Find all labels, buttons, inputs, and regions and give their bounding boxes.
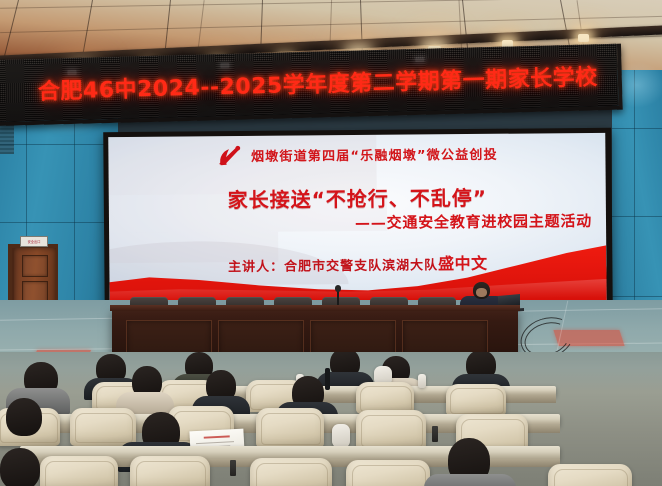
- exit-sign: 安全出口: [20, 236, 48, 247]
- bottle: [325, 368, 330, 390]
- presenter-face: [476, 288, 487, 297]
- slide-subtitle: ——交通安全教育进校园主题活动: [355, 210, 592, 233]
- auditorium-seat[interactable]: [346, 460, 430, 486]
- handbag: [332, 424, 350, 448]
- cup: [418, 374, 426, 388]
- audience-head: [6, 398, 42, 436]
- projection-screen: 烟墩街道第四届“乐融烟墩”微公益创投 家长接送“不抢行、不乱停” ——交通安全教…: [108, 133, 606, 308]
- auditorium-seat[interactable]: [256, 408, 324, 448]
- cpc-hammer-sickle-icon: [216, 143, 242, 167]
- projection-screen-frame: 烟墩街道第四届“乐融烟墩”微公益创投 家长接送“不抢行、不乱停” ——交通安全教…: [103, 128, 613, 314]
- podium-top-edge: [110, 305, 520, 311]
- auditorium-seat[interactable]: [40, 456, 118, 486]
- slide-header-row: 烟墩街道第四届“乐融烟墩”微公益创投: [108, 140, 605, 168]
- ceiling-spotlight: [578, 34, 589, 42]
- auditorium-seat[interactable]: [548, 464, 632, 486]
- audience-shoulders: [424, 474, 516, 486]
- auditorium-photo: 安全出口 合肥46中2024--2025学年度第二学期第一期家长学校: [0, 0, 662, 486]
- exit-sign-label: 安全出口: [28, 239, 41, 244]
- led-banner-text: 合肥46中2024--2025学年度第二学期第一期家长学校: [38, 59, 598, 106]
- slide-speaker-label: 主讲人：合肥市交警支队滨湖大队: [228, 258, 438, 275]
- auditorium-seat[interactable]: [70, 408, 136, 446]
- slide-speaker-name: 盛中文: [438, 254, 488, 273]
- audience-seating: [0, 352, 662, 486]
- slide-header-text: 烟墩街道第四届“乐融烟墩”微公益创投: [251, 143, 498, 164]
- slide-title: 家长接送“不抢行、不乱停”: [109, 181, 606, 214]
- auditorium-seat[interactable]: [130, 456, 210, 486]
- auditorium-seat[interactable]: [446, 384, 506, 416]
- audience-head: [0, 448, 40, 486]
- auditorium-seat[interactable]: [356, 410, 426, 450]
- auditorium-seat[interactable]: [250, 458, 332, 486]
